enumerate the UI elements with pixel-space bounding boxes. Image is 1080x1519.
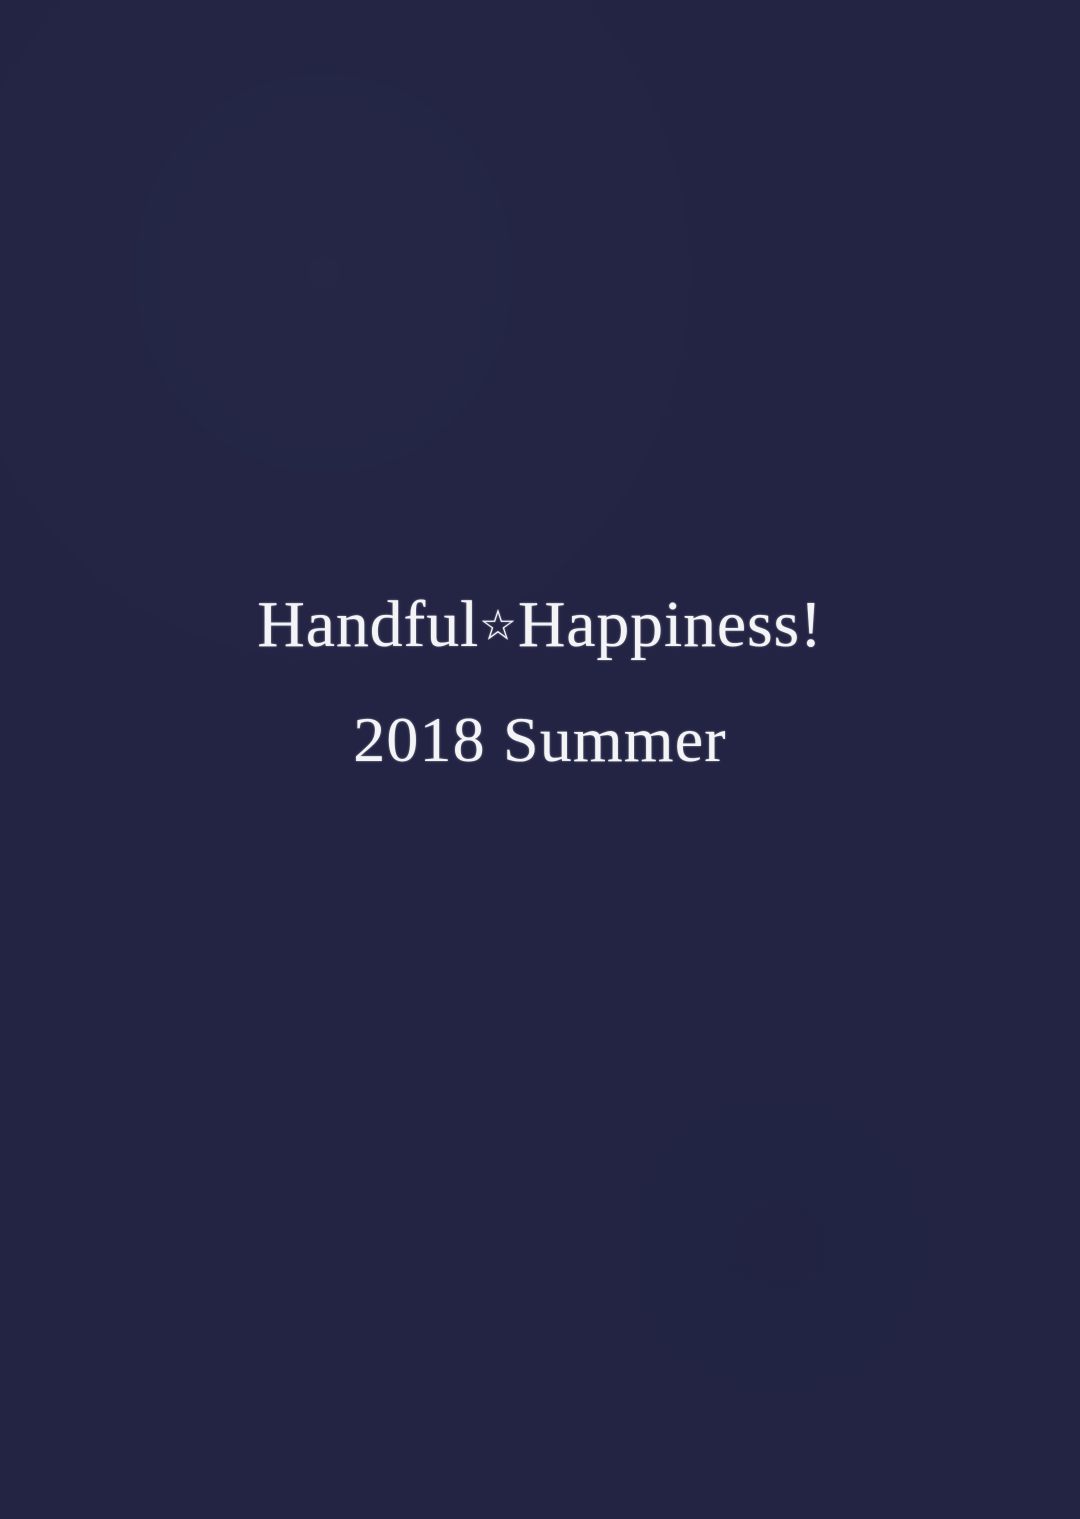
back-cover-page: Handful☆Happiness! 2018 Summer [0,0,1080,1519]
circle-name-prefix: Handful [257,588,479,661]
circle-name-title: Handful☆Happiness! [0,592,1080,658]
circle-name-suffix: Happiness! [518,588,823,661]
colophon-block: Handful☆Happiness! 2018 Summer [0,592,1080,772]
edition-label: 2018 Summer [0,708,1080,772]
open-star-icon: ☆ [479,602,518,649]
